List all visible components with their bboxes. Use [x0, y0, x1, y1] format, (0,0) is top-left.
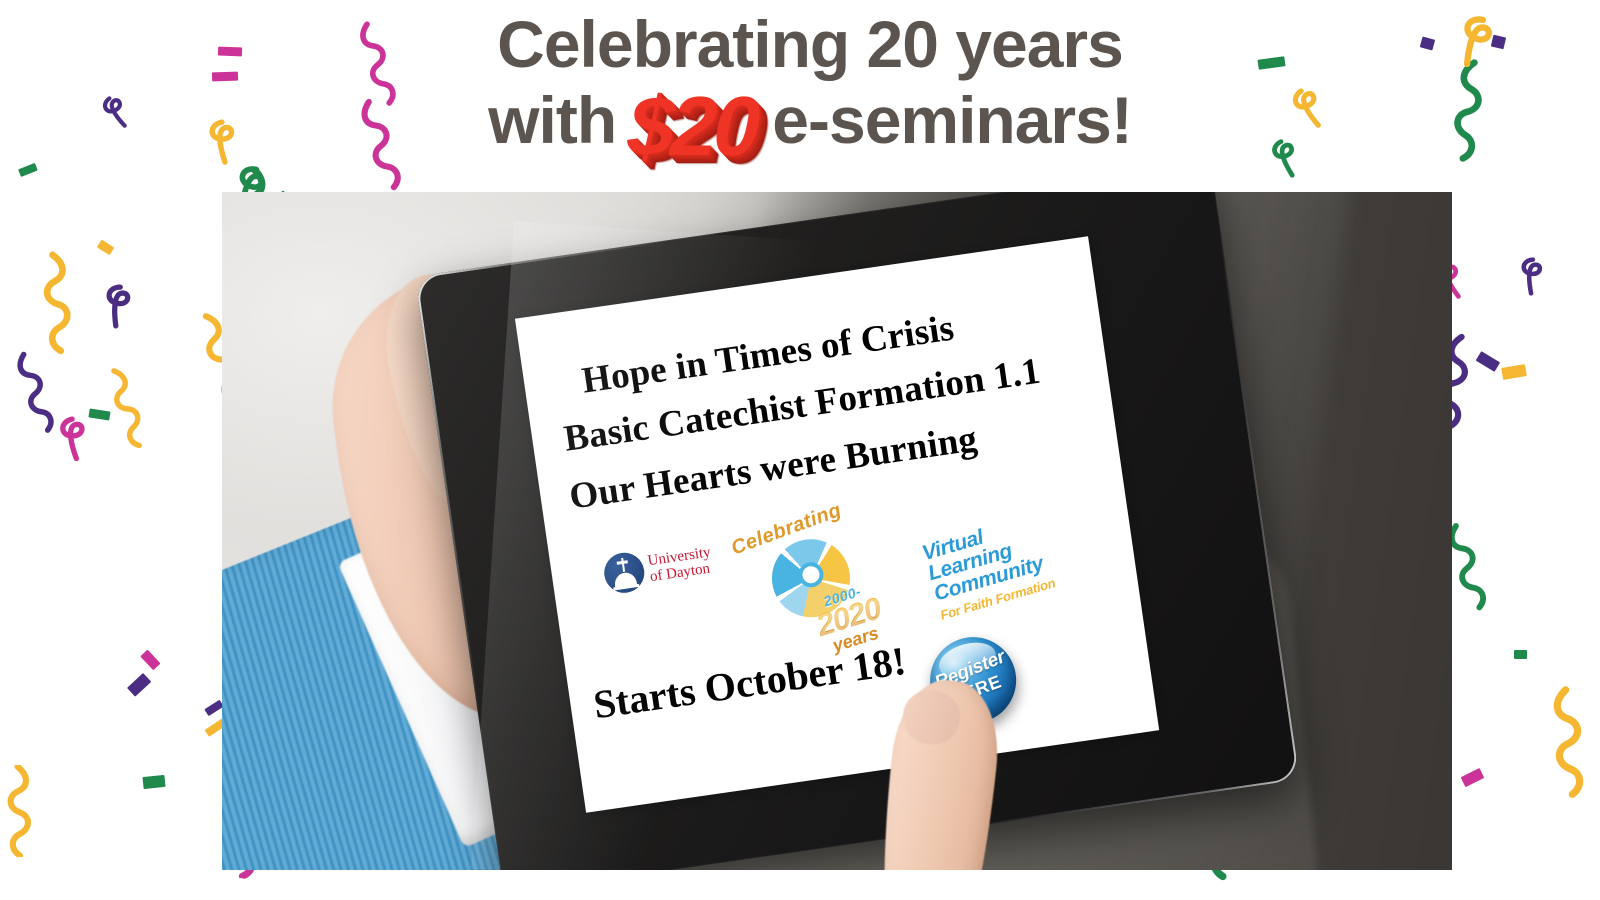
confetti-piece [1287, 82, 1333, 135]
confetti-piece [6, 336, 65, 450]
promo-banner: Celebrating 20 years with $20 e-seminars… [0, 0, 1600, 900]
headline-prefix: with [488, 82, 616, 158]
confetti-piece [1448, 10, 1500, 73]
confetti-piece [1267, 135, 1306, 182]
confetti-piece [1475, 351, 1499, 371]
headline-line-2: with $20 e-seminars! [380, 82, 1240, 158]
confetti-piece [218, 46, 242, 56]
confetti-piece [1514, 650, 1527, 659]
ud-wordmark: University of Dayton [647, 545, 714, 586]
confetti-piece [212, 72, 238, 82]
confetti-piece [35, 234, 80, 372]
confetti-piece [98, 90, 137, 133]
tablet-bezel: Hope in Times of Crisis Basic Catechist … [415, 192, 1300, 870]
confetti-piece [1547, 679, 1591, 805]
confetti-piece [0, 764, 36, 857]
vlc-globe-center [801, 565, 820, 584]
confetti-piece [1446, 58, 1491, 164]
confetti-piece [1258, 56, 1286, 69]
confetti-piece [127, 673, 151, 696]
confetti-piece [57, 414, 92, 463]
hero-photo: Hope in Times of Crisis Basic Catechist … [222, 192, 1452, 870]
confetti-piece [204, 700, 223, 716]
confetti-piece [18, 163, 37, 177]
confetti-piece [1491, 35, 1506, 49]
ud-chapel-icon [601, 551, 646, 596]
banner-headline: Celebrating 20 years with $20 e-seminars… [380, 6, 1240, 186]
confetti-piece [100, 283, 135, 331]
confetti-piece [97, 240, 115, 256]
confetti-piece [1420, 37, 1435, 51]
confetti-piece [141, 650, 161, 670]
tablet-screen: Hope in Times of Crisis Basic Catechist … [515, 237, 1159, 813]
vlc-wordmark: Virtual Learning Community For Faith For… [920, 510, 1058, 625]
slide-content: Hope in Times of Crisis Basic Catechist … [515, 237, 1159, 813]
tablet-device: Hope in Times of Crisis Basic Catechist … [375, 192, 1397, 870]
confetti-piece [207, 118, 241, 166]
confetti-piece [1518, 256, 1546, 296]
headline-line-1: Celebrating 20 years [380, 6, 1240, 82]
confetti-piece [1460, 768, 1484, 788]
price-badge: $20 [627, 88, 758, 164]
headline-suffix: e-seminars! [772, 82, 1132, 158]
confetti-piece [93, 344, 159, 472]
confetti-piece [143, 775, 166, 789]
confetti-piece [89, 409, 111, 421]
confetti-piece [1502, 364, 1527, 379]
